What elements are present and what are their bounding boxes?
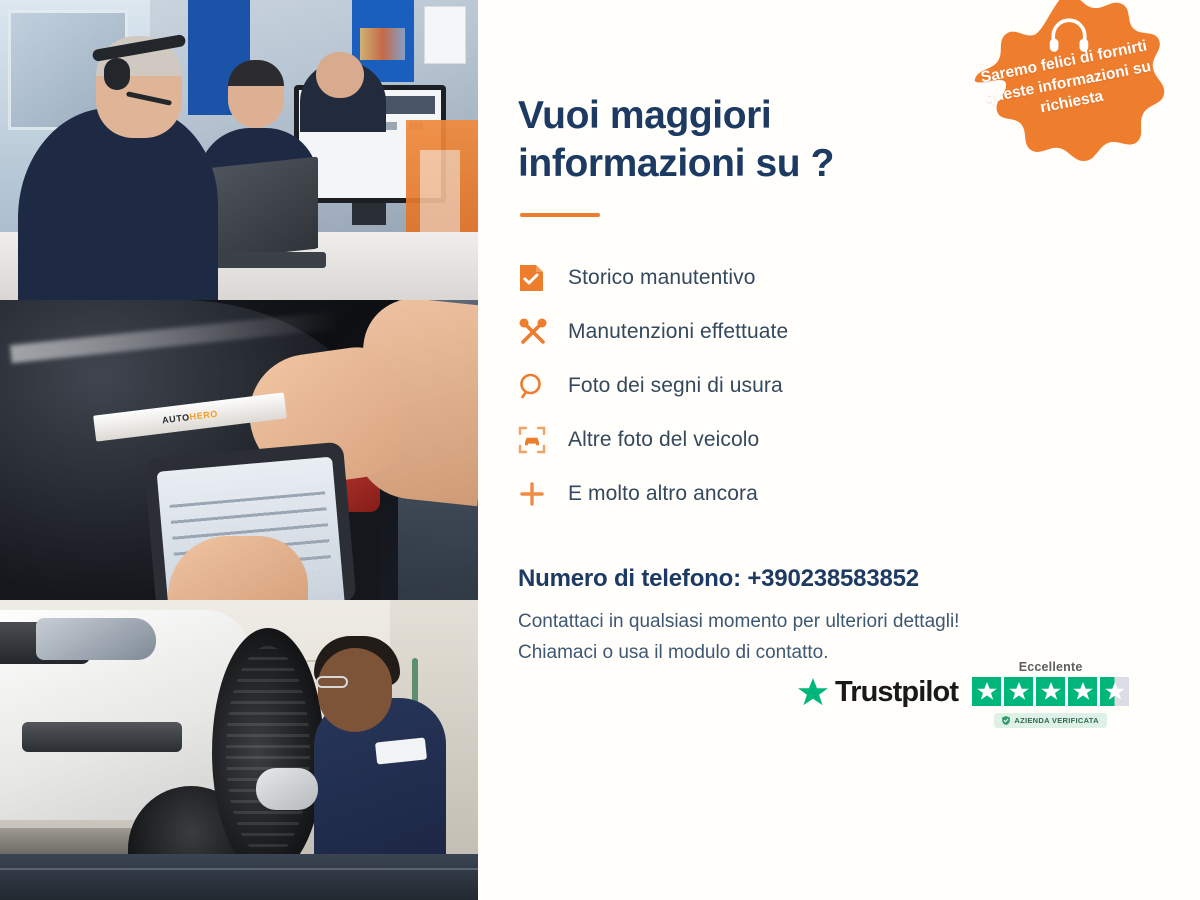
photo-call-centre bbox=[0, 0, 478, 300]
feature-label: E molto altro ancora bbox=[568, 482, 758, 506]
technician-head bbox=[318, 648, 392, 732]
headset-earcup bbox=[104, 58, 130, 90]
photo-column: AUTOHERO bbox=[0, 0, 478, 900]
star-5-half bbox=[1100, 677, 1129, 706]
callout-badge: Saremo felici di fornirti queste informa… bbox=[968, 0, 1168, 206]
document-check-icon bbox=[518, 263, 568, 293]
feature-label: Storico manutentivo bbox=[568, 266, 756, 290]
car-air-intake bbox=[22, 722, 182, 752]
contact-line-1: Contattaci in qualsiasi momento per ulte… bbox=[518, 607, 1200, 638]
brand-suffix: HERO bbox=[189, 409, 218, 422]
trustpilot-star-icon bbox=[798, 678, 828, 707]
feature-list: Storico manutentivo Manutenzioni effettu… bbox=[518, 251, 1200, 521]
verified-badge: AZIENDA VERIFICATA bbox=[994, 713, 1106, 728]
magnifier-icon bbox=[518, 372, 568, 400]
trustpilot-rating: Eccellente bbox=[972, 660, 1129, 728]
safety-glasses bbox=[316, 676, 348, 688]
content-panel: Vuoi maggiori informazioni su ? Saremo f… bbox=[478, 0, 1200, 900]
feature-item-foto-usura: Foto dei segni di usura bbox=[518, 359, 1200, 413]
wheel-front bbox=[212, 628, 324, 876]
car-scan-icon bbox=[518, 426, 568, 454]
star-rating bbox=[972, 677, 1129, 706]
plus-icon bbox=[518, 480, 568, 508]
star-4 bbox=[1068, 677, 1097, 706]
car-headlight bbox=[36, 618, 156, 660]
rating-label: Eccellente bbox=[1019, 660, 1083, 674]
monitor-stand bbox=[352, 203, 386, 225]
feature-label: Manutenzioni effettuate bbox=[568, 320, 788, 344]
feature-label: Altre foto del veicolo bbox=[568, 428, 759, 452]
work-glove bbox=[256, 768, 318, 810]
contact-block: Numero di telefono: +390238583852 Contat… bbox=[518, 565, 1200, 669]
feature-item-altre-foto: Altre foto del veicolo bbox=[518, 413, 1200, 467]
trustpilot-logo: Trustpilot bbox=[798, 676, 958, 709]
verified-label: AZIENDA VERIFICATA bbox=[1014, 716, 1098, 725]
brand-prefix: AUTO bbox=[162, 412, 191, 425]
feature-item-manutenzioni: Manutenzioni effettuate bbox=[518, 305, 1200, 359]
star-1 bbox=[972, 677, 1001, 706]
photo-inspection: AUTOHERO bbox=[0, 300, 478, 600]
tool-cabinet bbox=[0, 854, 478, 900]
agent-1-body bbox=[18, 108, 218, 300]
agent-3-head bbox=[316, 52, 364, 98]
trustpilot-widget[interactable]: Trustpilot Eccellente bbox=[798, 660, 1129, 728]
trustpilot-wordmark: Trustpilot bbox=[835, 676, 958, 709]
feature-label: Foto dei segni di usura bbox=[568, 374, 783, 398]
feature-item-storico: Storico manutentivo bbox=[518, 251, 1200, 305]
star-3 bbox=[1036, 677, 1065, 706]
shield-check-icon bbox=[1002, 716, 1010, 725]
promo-banner: AUTOHERO Vuoi maggiori informazioni bbox=[0, 0, 1200, 900]
page-title: Vuoi maggiori informazioni su ? bbox=[518, 92, 948, 187]
star-2 bbox=[1004, 677, 1033, 706]
title-divider bbox=[520, 213, 600, 217]
wall-notice bbox=[424, 6, 466, 64]
photo-wheel-service bbox=[0, 600, 478, 900]
feature-item-altro-ancora: E molto altro ancora bbox=[518, 467, 1200, 521]
crossed-tools-icon bbox=[518, 317, 568, 347]
phone-number-line[interactable]: Numero di telefono: +390238583852 bbox=[518, 565, 1200, 593]
